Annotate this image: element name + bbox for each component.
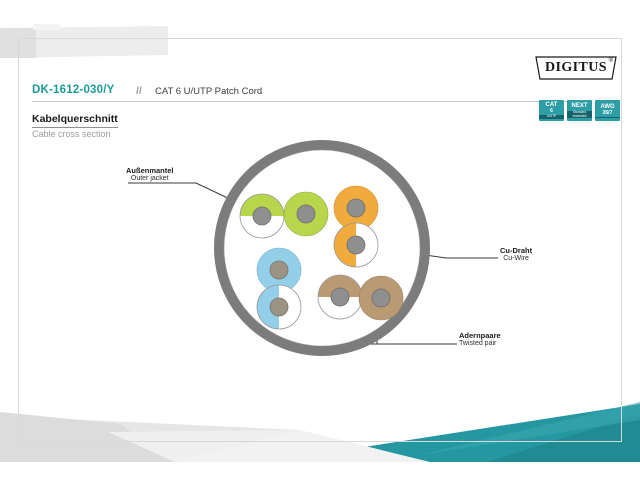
slide-canvas: DK-1612-030/Y // CAT 6 U/UTP Patch Cord … bbox=[0, 0, 640, 480]
registered-trademark-icon: ® bbox=[609, 58, 613, 64]
twisted-pair-annotation: Adernpaare Twisted pair bbox=[459, 331, 501, 349]
cat6-badge-line1: CAT bbox=[546, 102, 558, 108]
awg-badge-line2: 26/7 bbox=[603, 111, 613, 116]
cu-wire-label-en: Cu-Wire bbox=[500, 255, 532, 264]
outer-jacket-annotation: Außenmantel Outer jacket bbox=[126, 166, 174, 184]
logo-wordmark: DIGITUS bbox=[533, 56, 619, 80]
twisted-pair-label-de: Adernpaare bbox=[459, 331, 501, 340]
cat6-badge: CAT 6 U/UTP bbox=[539, 100, 564, 121]
cat6-badge-line2: 6 bbox=[550, 109, 553, 114]
next-badge-line3: Standard exceeded bbox=[567, 111, 592, 118]
next-badge-line1: NEXT bbox=[571, 103, 587, 109]
header-divider bbox=[32, 101, 592, 102]
awg-badge-line3 bbox=[595, 117, 620, 118]
twisted-pair-label-en: Twisted pair bbox=[459, 340, 501, 349]
product-code: DK-1612-030/Y bbox=[32, 84, 115, 96]
cat6-badge-line3: U/UTP bbox=[539, 115, 564, 119]
cu-wire-label-de: Cu-Draht bbox=[500, 246, 532, 255]
certification-badges: CAT 6 U/UTP NEXT Standard exceeded AWG 2… bbox=[539, 100, 620, 121]
cu-wire-annotation: Cu-Draht Cu-Wire bbox=[500, 246, 532, 264]
product-description: CAT 6 U/UTP Patch Cord bbox=[155, 86, 262, 97]
next-badge: NEXT Standard exceeded bbox=[567, 100, 592, 121]
header-separator: // bbox=[136, 85, 142, 97]
digitus-logo: DIGITUS ® bbox=[533, 56, 619, 80]
outer-jacket-label-de: Außenmantel bbox=[126, 166, 174, 175]
decor-top-gray-3 bbox=[33, 24, 60, 30]
header-row: DK-1612-030/Y // CAT 6 U/UTP Patch Cord bbox=[32, 84, 592, 102]
awg-badge: AWG 26/7 bbox=[595, 100, 620, 121]
page-title: Kabelquerschnitt bbox=[32, 113, 118, 128]
page-subtitle: Cable cross section bbox=[32, 129, 111, 139]
awg-badge-line1: AWG bbox=[600, 104, 614, 110]
outer-jacket-label-en: Outer jacket bbox=[126, 175, 174, 184]
